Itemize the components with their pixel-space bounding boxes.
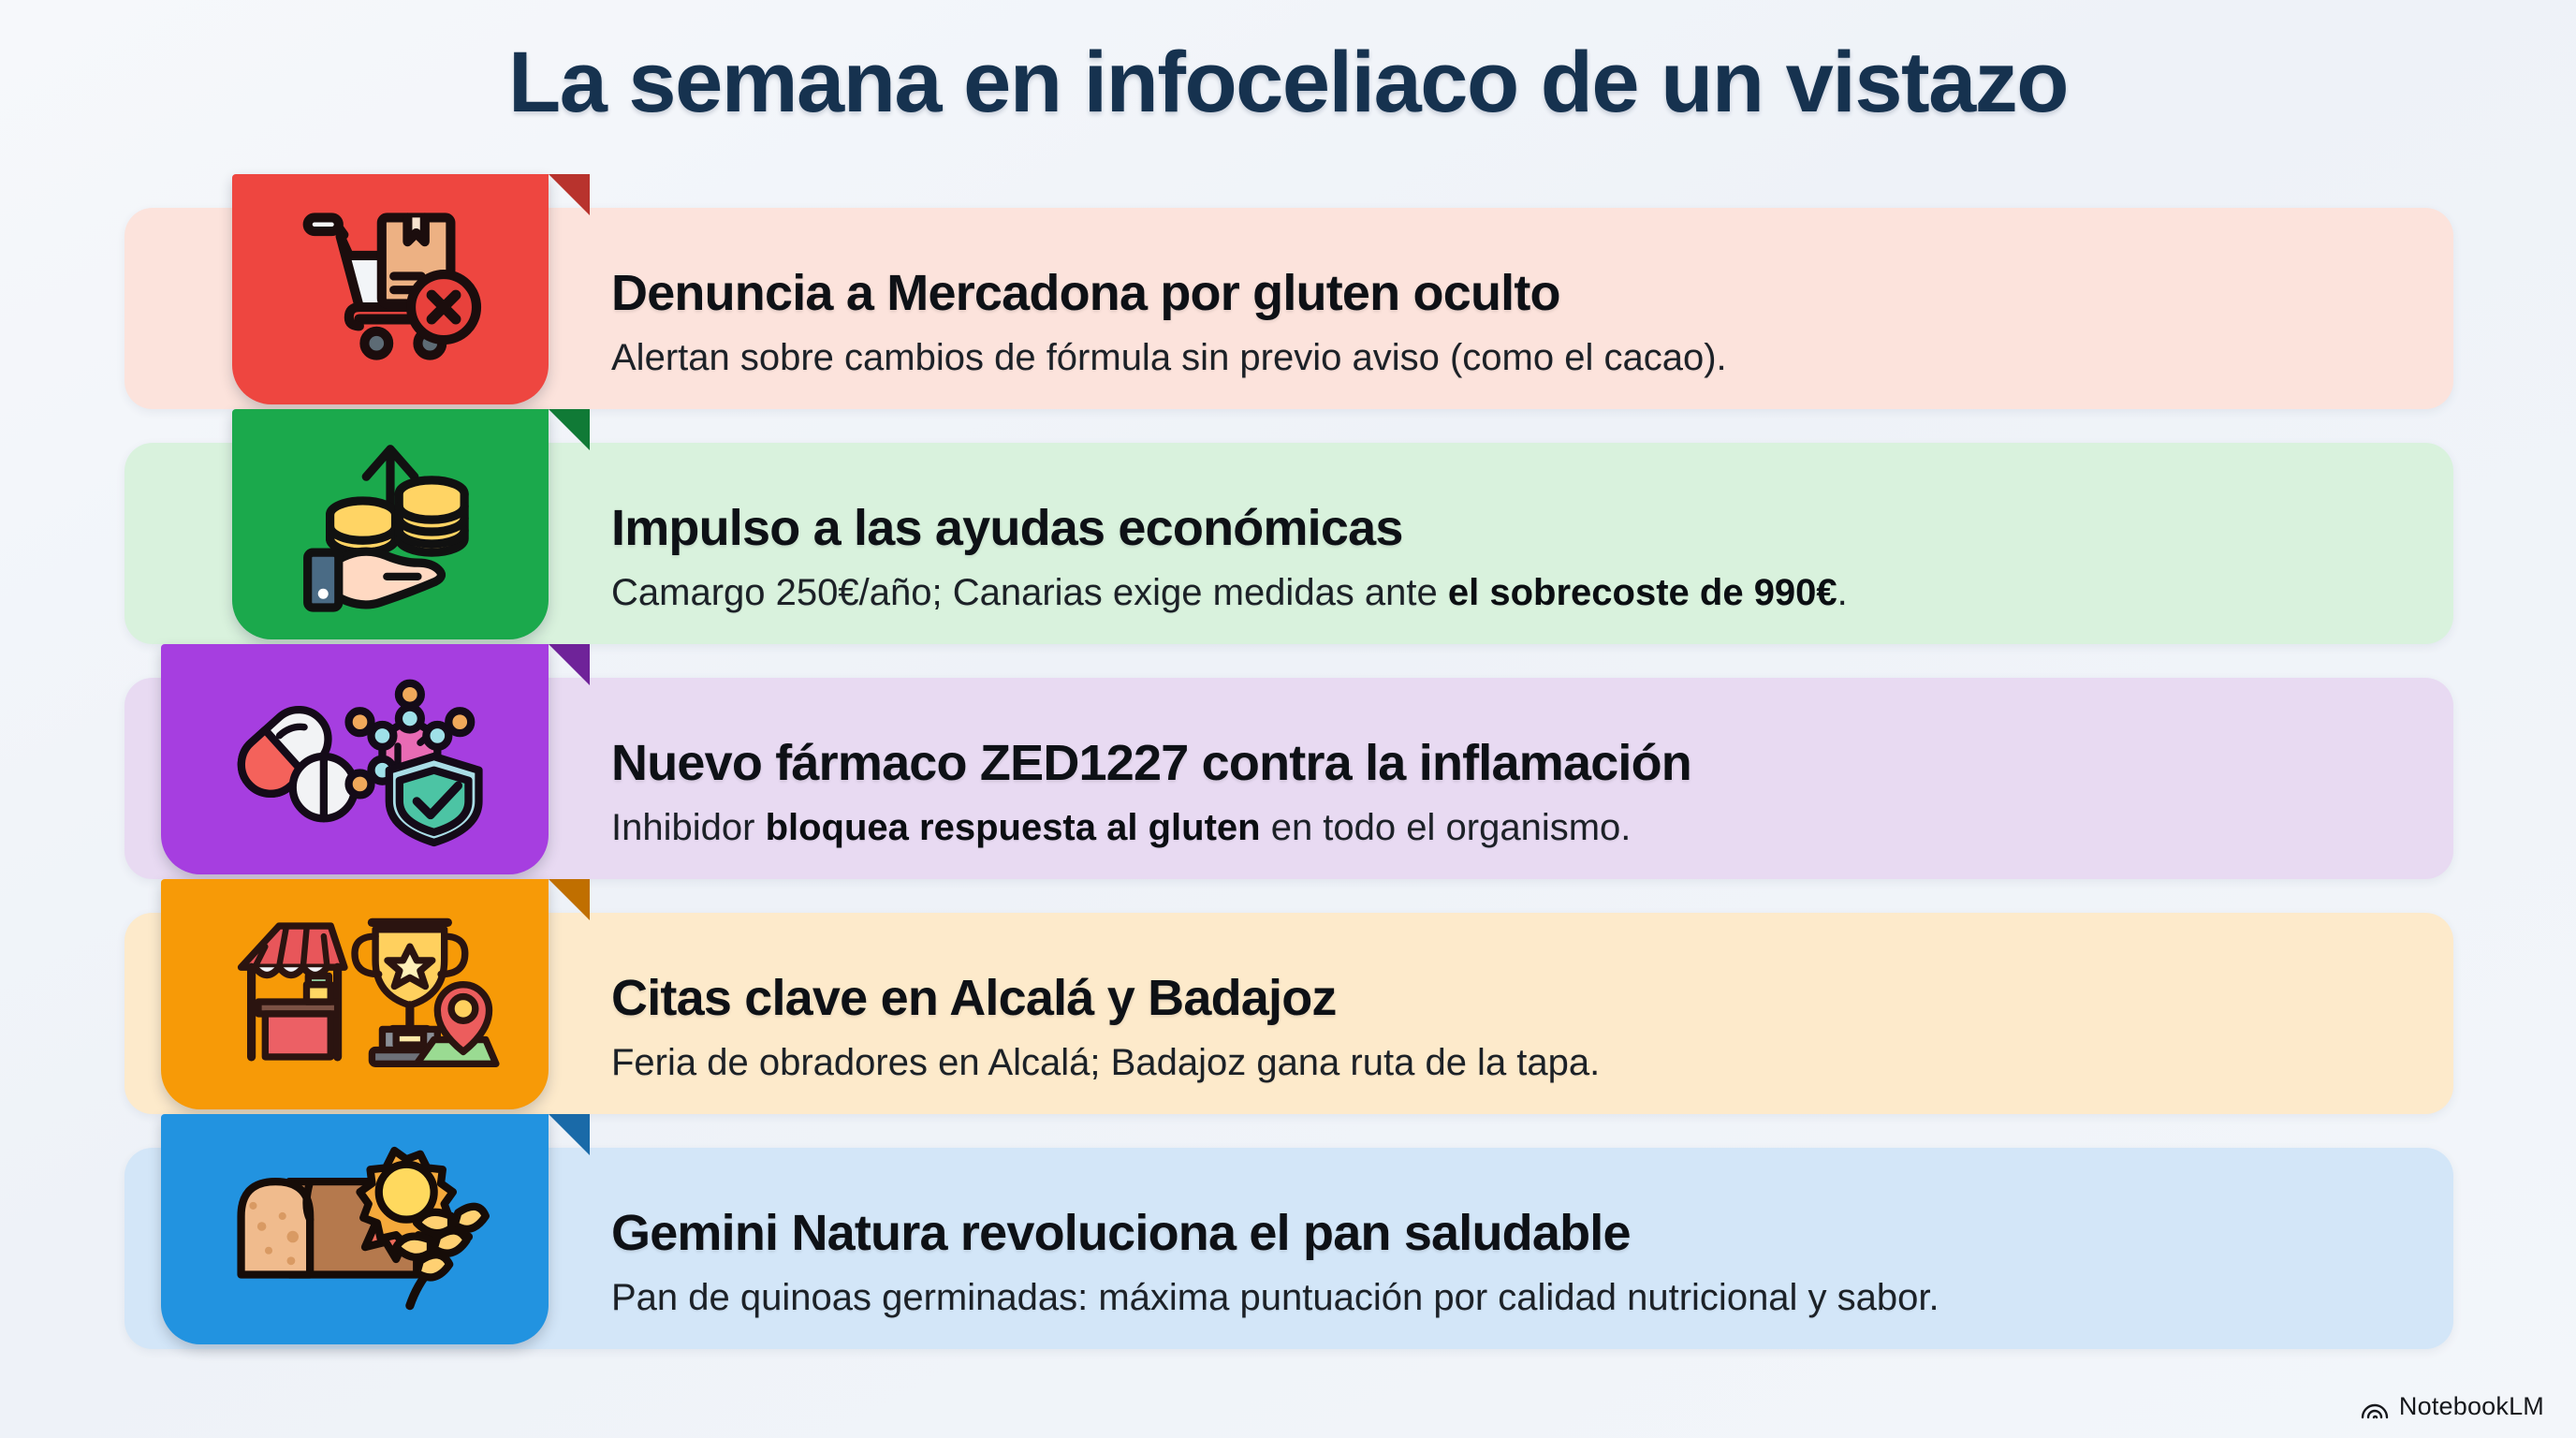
page-title: La semana en infoceliaco de un vistazo xyxy=(0,34,2576,132)
card-text-citas: Citas clave en Alcalá y Badajoz Feria de… xyxy=(611,913,1656,1114)
notebooklm-spiral-icon xyxy=(2361,1395,2389,1419)
subtitle-prefix: Alertan sobre cambios de fórmula sin pre… xyxy=(611,337,1727,378)
news-card-zed1227[interactable]: Nuevo fármaco ZED1227 contra la inflamac… xyxy=(124,678,2453,879)
card-subtitle: Inhibidor bloquea respuesta al gluten en… xyxy=(611,806,1691,849)
card-text-mercadona: Denuncia a Mercadona por gluten oculto A… xyxy=(611,208,1783,409)
notebooklm-watermark: NotebookLM xyxy=(2361,1392,2544,1421)
badge-fold-corner xyxy=(549,879,590,920)
card-badge-gemini-natura xyxy=(161,1114,549,1344)
market-stall-trophy-map-pin-icon xyxy=(161,879,549,1109)
card-subtitle: Pan de quinoas germinadas: máxima puntua… xyxy=(611,1276,1939,1319)
subtitle-suffix: . xyxy=(1837,572,1848,613)
card-headline: Nuevo fármaco ZED1227 contra la inflamac… xyxy=(611,736,1691,790)
badge-fold-corner xyxy=(549,409,590,450)
card-subtitle: Camargo 250€/año; Canarias exige medidas… xyxy=(611,571,1848,614)
subtitle-prefix: Pan de quinoas germinadas: máxima puntua… xyxy=(611,1277,1939,1318)
card-badge-zed1227 xyxy=(161,644,549,874)
card-badge-ayudas xyxy=(232,409,549,639)
card-text-zed1227: Nuevo fármaco ZED1227 contra la inflamac… xyxy=(611,678,1748,879)
card-headline: Denuncia a Mercadona por gluten oculto xyxy=(611,266,1727,320)
news-card-gemini-natura[interactable]: Gemini Natura revoluciona el pan saludab… xyxy=(124,1148,2453,1349)
card-subtitle: Alertan sobre cambios de fórmula sin pre… xyxy=(611,336,1727,379)
shopping-cart-box-rejected-icon xyxy=(232,174,549,404)
subtitle-prefix: Feria de obradores en Alcalá; Badajoz ga… xyxy=(611,1042,1600,1083)
subtitle-suffix: en todo el organismo. xyxy=(1261,807,1632,848)
pills-molecule-shield-icon xyxy=(161,644,549,874)
subtitle-prefix: Inhibidor xyxy=(611,807,766,848)
subtitle-prefix: Camargo 250€/año; Canarias exige medidas… xyxy=(611,572,1448,613)
subtitle-bold: el sobrecoste de 990€ xyxy=(1448,572,1837,613)
card-badge-mercadona xyxy=(232,174,549,404)
card-text-ayudas: Impulso a las ayudas económicas Camargo … xyxy=(611,443,1904,644)
bread-loaf-award-wheat-icon xyxy=(161,1114,549,1344)
card-badge-citas xyxy=(161,879,549,1109)
badge-fold-corner xyxy=(549,174,590,215)
card-headline: Citas clave en Alcalá y Badajoz xyxy=(611,971,1600,1025)
card-headline: Gemini Natura revoluciona el pan saludab… xyxy=(611,1206,1939,1260)
card-text-gemini-natura: Gemini Natura revoluciona el pan saludab… xyxy=(611,1148,1996,1349)
badge-fold-corner xyxy=(549,1114,590,1155)
hand-coins-growth-icon xyxy=(232,409,549,639)
subtitle-bold: bloquea respuesta al gluten xyxy=(766,807,1261,848)
notebooklm-label: NotebookLM xyxy=(2399,1392,2544,1421)
news-card-ayudas[interactable]: Impulso a las ayudas económicas Camargo … xyxy=(124,443,2453,644)
news-card-mercadona[interactable]: Denuncia a Mercadona por gluten oculto A… xyxy=(124,208,2453,409)
card-headline: Impulso a las ayudas económicas xyxy=(611,501,1848,555)
card-subtitle: Feria de obradores en Alcalá; Badajoz ga… xyxy=(611,1041,1600,1084)
badge-fold-corner xyxy=(549,644,590,685)
news-card-list: Denuncia a Mercadona por gluten oculto A… xyxy=(124,208,2453,1349)
news-card-citas[interactable]: Citas clave en Alcalá y Badajoz Feria de… xyxy=(124,913,2453,1114)
title-bar: La semana en infoceliaco de un vistazo xyxy=(0,0,2576,132)
